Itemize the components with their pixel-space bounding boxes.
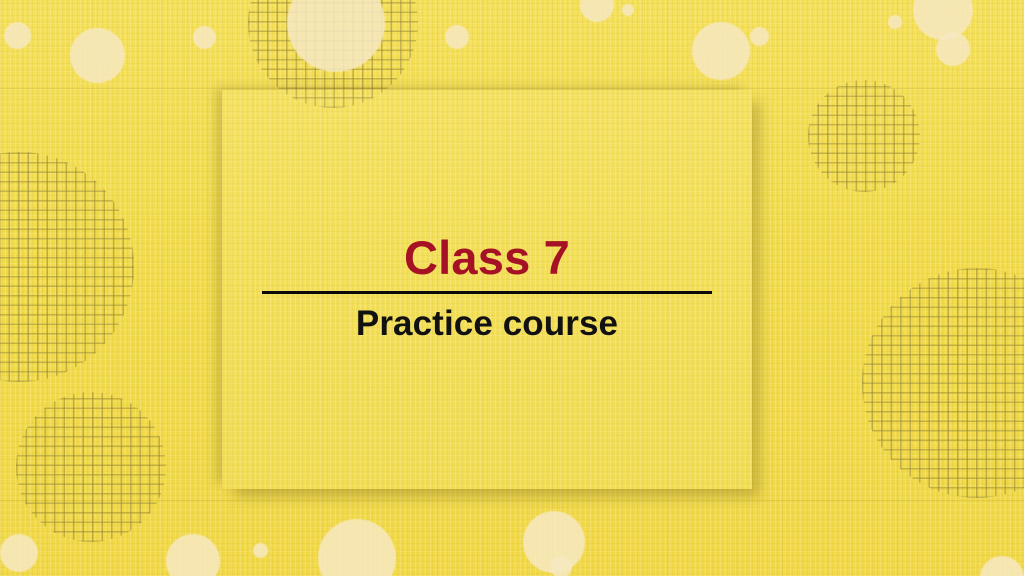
presentation-slide: Class 7 Practice course: [0, 0, 1024, 576]
title-block: Class 7 Practice course: [222, 230, 752, 345]
title-divider-rule: [262, 291, 712, 294]
page-title: Class 7: [222, 230, 752, 285]
slide-subtitle: Practice course: [222, 303, 752, 345]
